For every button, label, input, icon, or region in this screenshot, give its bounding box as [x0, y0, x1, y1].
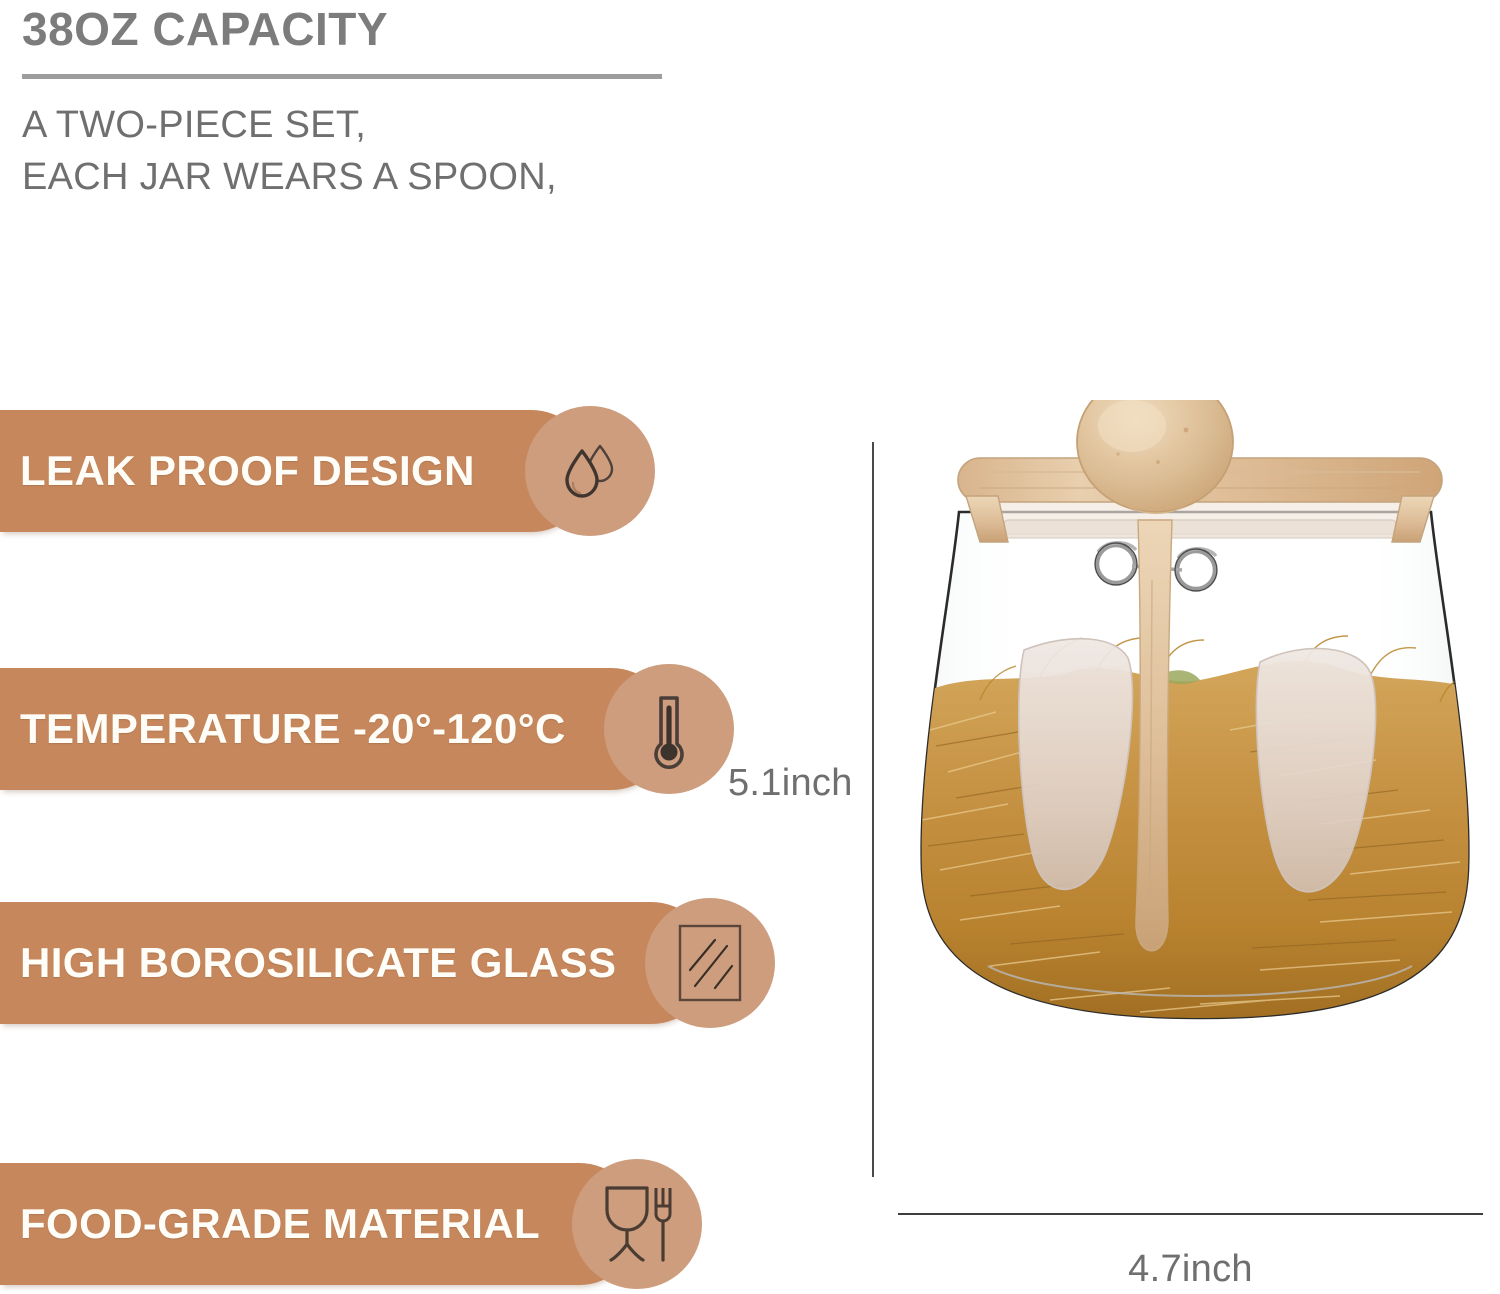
feature-bar: TEMPERATURE -20°-120°C — [0, 668, 672, 790]
product-infographic: 38OZ CAPACITY A TWO-PIECE SET, EACH JAR … — [0, 0, 1500, 1294]
feature-badge — [572, 1159, 702, 1289]
glass-pane-icon — [671, 920, 749, 1006]
feature-bar: FOOD-GRADE MATERIAL — [0, 1163, 640, 1285]
feature-label: TEMPERATURE -20°-120°C — [0, 705, 566, 753]
height-dimension-label: 5.1inch — [728, 762, 853, 805]
feature-list: LEAK PROOF DESIGN TEMPERATURE -20°-120°C — [0, 0, 800, 1294]
height-dimension-line — [872, 442, 874, 1177]
feature-badge — [525, 406, 655, 536]
feature-bar: LEAK PROOF DESIGN — [0, 410, 592, 532]
product-image — [900, 400, 1500, 1200]
feature-badge — [645, 898, 775, 1028]
width-dimension-line — [898, 1213, 1483, 1215]
feature-badge — [604, 664, 734, 794]
feature-label: HIGH BOROSILICATE GLASS — [0, 939, 616, 987]
thermometer-icon — [634, 688, 704, 770]
feature-bar: HIGH BOROSILICATE GLASS — [0, 902, 712, 1024]
jar-contents — [910, 636, 1492, 1040]
water-drop-icon — [553, 434, 627, 508]
feature-label: LEAK PROOF DESIGN — [0, 447, 475, 495]
glass-and-fork-icon — [595, 1180, 679, 1268]
feature-label: FOOD-GRADE MATERIAL — [0, 1200, 540, 1248]
width-dimension-label: 4.7inch — [898, 1248, 1483, 1291]
